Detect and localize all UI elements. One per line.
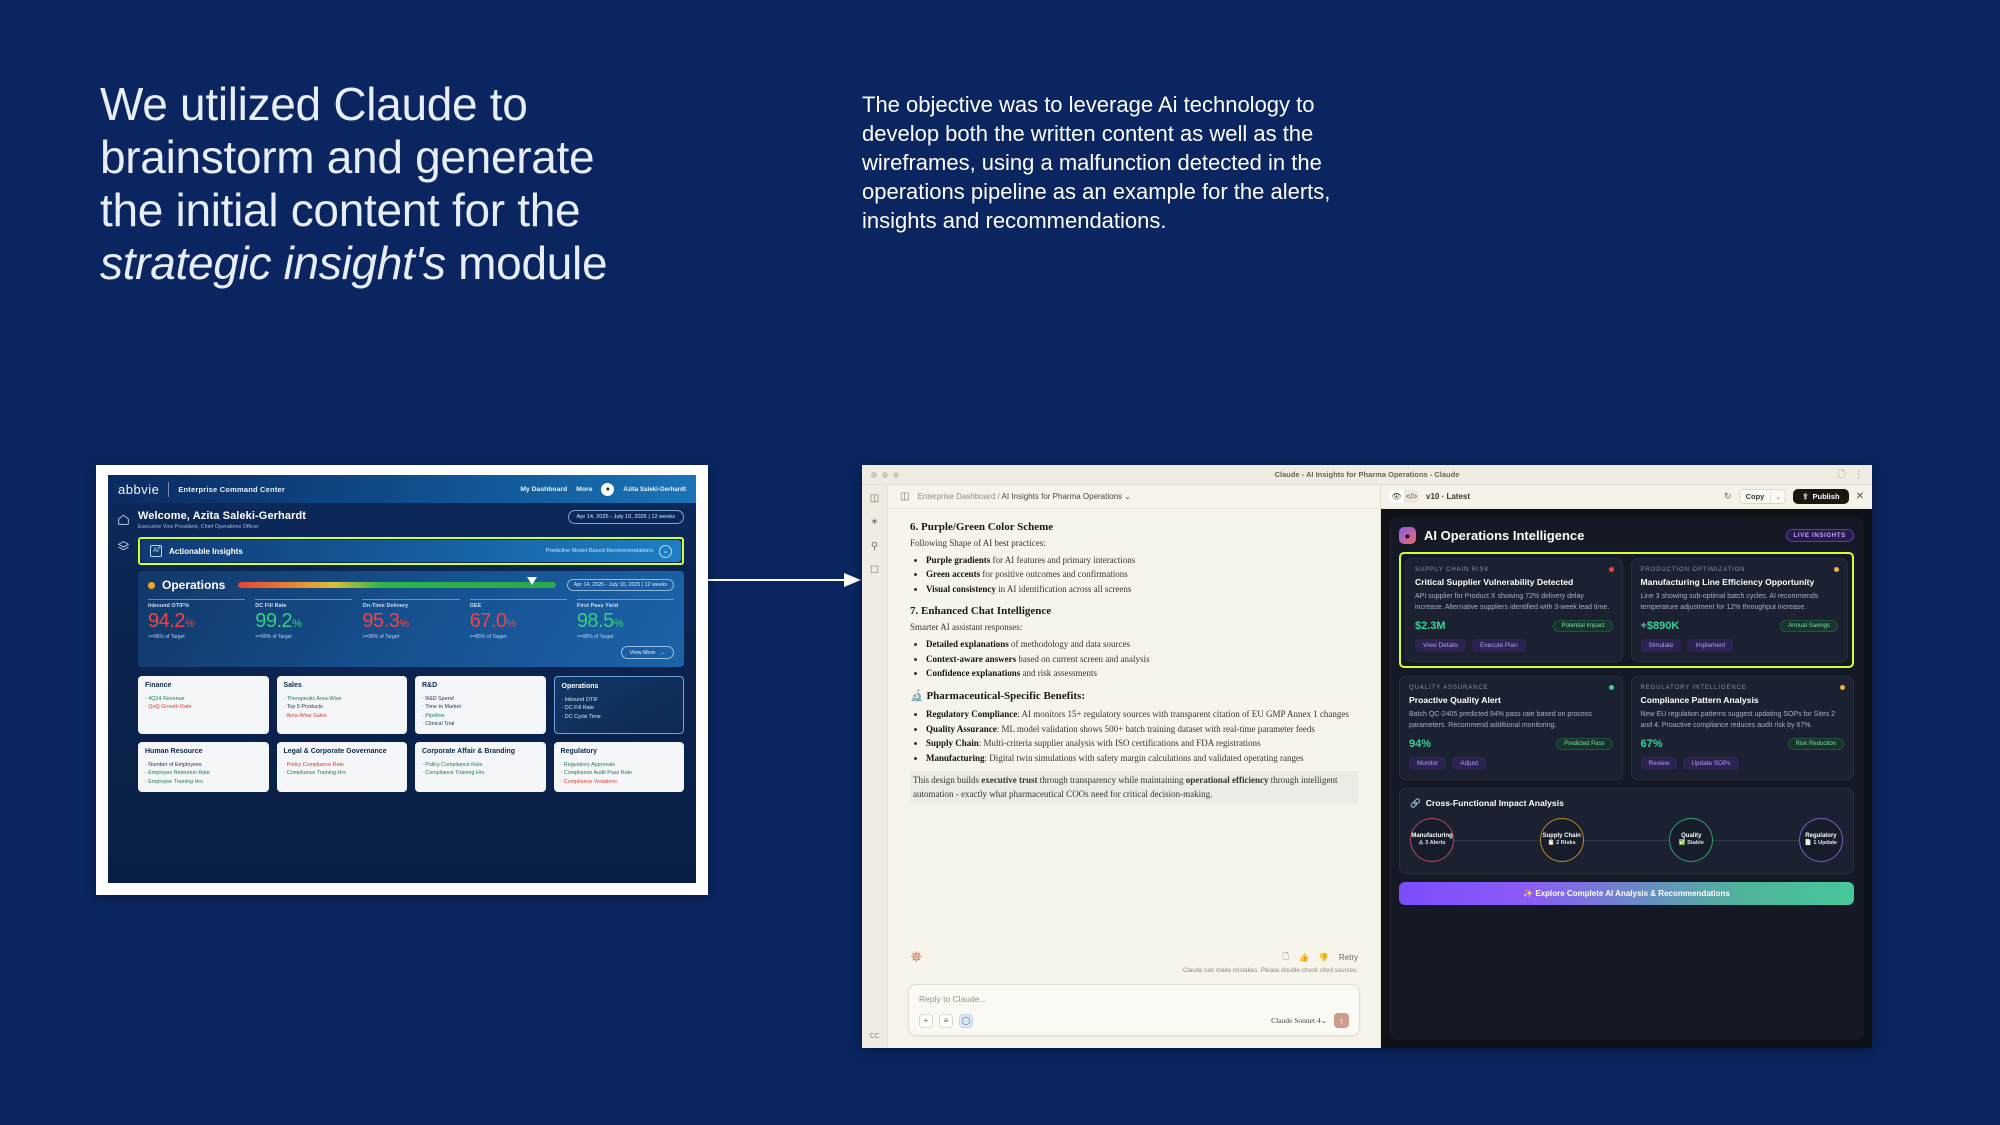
node-status-label: Stable — [1687, 840, 1704, 846]
kpi-target: >=96% of Target — [148, 634, 245, 640]
doc-list-6: Purple gradients for AI features and pri… — [910, 553, 1358, 596]
close-icon[interactable]: ✕ — [1856, 491, 1864, 502]
impact-node-supply-chain[interactable]: Supply Chain 📋 2 Risks — [1540, 818, 1584, 862]
kpi-target: >=99% of Target — [362, 634, 459, 640]
card-items: R&D Spend Time to Market Pipeline Clinic… — [422, 695, 539, 729]
conversation-pane: ◫ Enterprise Dashboard / AI Insights for… — [888, 485, 1380, 1048]
explore-label: Explore Complete AI Analysis & Recommend… — [1535, 889, 1730, 898]
list-item: Compliance Audit Pass Rate — [561, 769, 678, 777]
model-chevron-down-icon: ⌄ — [1321, 1016, 1327, 1025]
node-label: Supply Chain — [1542, 833, 1580, 839]
item-bold: Quality Assurance — [926, 724, 997, 734]
actionable-insights-bar[interactable]: AI+ Actionable Insights Predictive Model… — [141, 540, 681, 562]
claude-app: ◫ ✶ ⚲ ☐ CC ◫ Enterprise Dashboard / AI I… — [862, 485, 1872, 1048]
item-rest: for positive outcomes and confirmations — [980, 569, 1128, 579]
list-item: Number of Employees — [145, 761, 262, 769]
node-status: 📄 1 Update — [1805, 840, 1837, 846]
kpi-value: 95.3% — [362, 610, 459, 632]
list-item: Compliance Training Hrs — [284, 769, 401, 777]
card-title: Legal & Corporate Governance — [284, 748, 401, 757]
card-title: Operations — [562, 683, 677, 692]
card-metric: $2.3M — [1415, 620, 1446, 632]
card-buttons: Review Update SOPs — [1641, 757, 1845, 770]
window-title: Claude - AI Insights for Pharma Operatio… — [862, 470, 1872, 479]
card-buttons: View Details Execute Plan — [1415, 639, 1613, 652]
kpi-value: 67.0% — [470, 610, 567, 632]
insight-cards-row-1: SUPPLY CHAIN RISK Critical Supplier Vuln… — [1405, 558, 1848, 662]
list-item: Pipeline — [422, 712, 539, 720]
send-button[interactable]: ↑ — [1334, 1013, 1349, 1028]
list-item: Time to Market — [422, 703, 539, 711]
impact-nodes: Manufacturing ⚠ 3 Alerts Supply Chain 📋 … — [1410, 818, 1843, 862]
clipboard-icon: 📋 — [1548, 840, 1555, 846]
app-title: Enterprise Command Center — [178, 485, 285, 494]
sliders-icon[interactable]: ≡ — [939, 1014, 953, 1028]
adjust-button[interactable]: Adjust — [1452, 757, 1486, 770]
gauge-marker-icon — [527, 577, 537, 585]
breadcrumb-current: AI Insights for Pharma Operations — [1002, 492, 1123, 501]
kpi-row: Inbound OTIF% 94.2% >=96% of Target DC F… — [148, 599, 674, 640]
actionable-insights-label: Actionable Insights — [169, 547, 243, 556]
kpi-unit: % — [614, 618, 623, 630]
card-description: API supplier for Product X showing 72% d… — [1415, 592, 1613, 614]
user-initials-badge[interactable]: CC — [869, 1033, 879, 1040]
welcome-block: Welcome, Azita Saleki-Gerhardt Executive… — [138, 510, 306, 530]
item-rest: in AI identification across all screens — [996, 584, 1131, 594]
impact-node-quality[interactable]: Quality ✅ Stable — [1669, 818, 1713, 862]
list-item: Confidence explanations and risk assessm… — [926, 666, 1358, 680]
doc-list-7: Detailed explanations of methodology and… — [910, 637, 1358, 680]
card-title: Critical Supplier Vulnerability Detected — [1415, 577, 1613, 588]
list-item: R&D Spend — [422, 695, 539, 703]
kpi-label: On-Time Delivery — [362, 603, 459, 609]
publish-button[interactable]: ⇪ Publish — [1793, 489, 1848, 504]
sparkle-icon: ✨ — [1523, 889, 1533, 898]
model-selector[interactable]: Claude Sonnet 4⌄ — [1271, 1016, 1327, 1025]
card-items: 4Q24 Revenue QoQ Growth Rate — [145, 695, 262, 712]
impact-node-regulatory[interactable]: Regulatory 📄 1 Update — [1799, 818, 1843, 862]
claude-sidebar: ◫ ✶ ⚲ ☐ CC — [862, 485, 888, 1048]
insight-card-regulatory-intelligence[interactable]: REGULATORY INTELLIGENCE Compliance Patte… — [1631, 676, 1855, 780]
card-metric-row: +$890K Annual Savings — [1641, 620, 1839, 632]
card-items: Policy Compliance Rate Compliance Traini… — [422, 761, 539, 778]
window-controls: 🗋 ⋮ — [1838, 467, 1863, 483]
artifact-panel: 👁 </> v10 · Latest ↻ Copy ⌄ ⇪ Publish — [1380, 485, 1872, 1048]
card-title: Regulatory — [561, 748, 678, 757]
node-status: 📋 2 Risks — [1548, 840, 1576, 846]
artifact-version: v10 · Latest — [1426, 492, 1470, 501]
model-label: Claude Sonnet 4 — [1271, 1016, 1321, 1025]
item-rest: for AI features and primary interactions — [990, 555, 1135, 565]
node-label: Manufacturing — [1411, 833, 1452, 839]
kpi-unit: % — [507, 618, 516, 630]
dashboard-sidebar — [108, 503, 138, 883]
document-icon: 📄 — [1805, 840, 1812, 846]
headline-line-1: We utilized Claude to — [100, 78, 820, 131]
card-metric: 94% — [1409, 738, 1431, 750]
insight-card-supply-chain-risk[interactable]: SUPPLY CHAIN RISK Critical Supplier Vuln… — [1405, 558, 1623, 662]
list-item: Purple gradients for AI features and pri… — [926, 553, 1358, 567]
clock-icon[interactable]: ◯ — [959, 1014, 973, 1028]
microscope-icon: 🔬 — [910, 690, 924, 702]
severity-dot-icon — [1834, 567, 1839, 572]
nav-username: Azita Saleki-Gerhardt — [623, 486, 686, 493]
page-title: We utilized Claude to brainstorm and gen… — [100, 78, 820, 290]
arrow-head — [844, 573, 861, 587]
doc-lead-6: Following Shape of AI best practices: — [910, 538, 1358, 548]
eye-icon[interactable]: 👁 — [1389, 490, 1404, 503]
topbar-nav: My Dashboard More ● Azita Saleki-Gerhard… — [520, 483, 686, 496]
card-description: Line 3 showing sub-optimal batch cycles.… — [1641, 592, 1839, 614]
doc-lead-7: Smarter AI assistant responses: — [910, 622, 1358, 632]
composer-wrapper: Reply to Claude... + ≡ ◯ Claude Sonnet 4… — [888, 974, 1380, 1048]
review-button[interactable]: Review — [1641, 757, 1678, 770]
insights-subtitle: Predictive Model-Based Recommendations — [546, 548, 653, 554]
ai-sparkle-icon: ● — [1399, 527, 1416, 544]
link-icon: 🔗 — [1410, 798, 1421, 809]
home-icon[interactable] — [117, 513, 130, 526]
item-rest: : AI monitors 15+ regulatory sources wit… — [1017, 709, 1349, 719]
card-metric: +$890K — [1641, 620, 1680, 632]
kpi-value: 98.5% — [577, 610, 674, 632]
card-items: Policy Compliance Rate Compliance Traini… — [284, 761, 401, 778]
domain-card-legal[interactable]: Legal & Corporate Governance Policy Comp… — [277, 742, 408, 792]
slide-root: We utilized Claude to brainstorm and gen… — [0, 0, 2000, 1125]
card-metric-row: 94% Predicted Pass — [1409, 738, 1613, 750]
closing-bold-2: operational efficiency — [1186, 775, 1269, 785]
welcome-role: Executive Vice President, Chief Operatio… — [138, 524, 306, 530]
closing-a: This design builds — [913, 775, 981, 785]
domain-card-corporate-affair[interactable]: Corporate Affair & Branding Policy Compl… — [415, 742, 546, 792]
card-tag: Risk Reduction — [1788, 738, 1844, 750]
kpi-number: 98.5 — [577, 610, 614, 632]
card-items: Therapeutic Area-Wise Top 5 Products Are… — [284, 695, 401, 720]
card-items: Inbound OTIF DC Fill Rate DC Cycle Time — [562, 696, 677, 721]
copy-chevron-down-icon[interactable]: ⌄ — [1770, 491, 1785, 503]
kpi-label: Inbound OTIF% — [148, 603, 245, 609]
headline-emphasis: strategic insight's — [100, 237, 446, 289]
artifact-actions: ↻ Copy ⌄ ⇪ Publish ✕ — [1724, 489, 1864, 504]
card-title: Human Resource — [145, 748, 262, 757]
item-bold: Green accents — [926, 569, 980, 579]
card-tag: Predicted Pass — [1556, 738, 1612, 750]
domain-card-rnd[interactable]: R&D R&D Spend Time to Market Pipeline Cl… — [415, 676, 546, 734]
disclaimer-text: Claude can make mistakes. Please double-… — [888, 965, 1380, 974]
view-mode-toggle[interactable]: 👁 </> — [1389, 490, 1419, 503]
actionable-insights-highlight: AI+ Actionable Insights Predictive Model… — [138, 537, 684, 565]
headline-line-4: strategic insight's module — [100, 237, 820, 290]
execute-plan-button[interactable]: Execute Plan — [1472, 639, 1526, 652]
card-metric-row: $2.3M Potential Impact — [1415, 620, 1613, 632]
item-bold: Detailed explanations — [926, 639, 1009, 649]
kpi-unit: % — [185, 618, 194, 630]
overflow-menu-icon[interactable]: ⋮ — [1854, 469, 1863, 480]
doc-heading-benefits: 🔬 Pharmaceutical-Specific Benefits: — [910, 689, 1358, 702]
simulate-button[interactable]: Simulate — [1641, 639, 1682, 652]
sidebar-toggle-icon[interactable]: ◫ — [870, 493, 879, 504]
list-item: QoQ Growth Rate — [145, 703, 262, 711]
cross-functional-impact-analysis: 🔗 Cross-Functional Impact Analysis Manuf… — [1399, 788, 1854, 874]
kpi-tile: On-Time Delivery 95.3% >=99% of Target — [362, 599, 459, 640]
nav-more[interactable]: More — [576, 486, 592, 493]
node-status: ✅ Stable — [1679, 840, 1704, 846]
claude-star-icon[interactable]: ✶ — [870, 517, 878, 528]
view-more-label: View More — [630, 650, 656, 656]
view-more-row: View More → — [148, 646, 674, 659]
card-tag: Annual Savings — [1780, 620, 1838, 632]
implement-button[interactable]: Implement — [1687, 639, 1733, 652]
item-bold: Regulatory Compliance — [926, 709, 1017, 719]
list-item: Quality Assurance: ML model validation s… — [926, 722, 1358, 736]
card-title: Compliance Pattern Analysis — [1641, 695, 1845, 706]
message-scroll-area[interactable]: 6. Purple/Green Color Scheme Following S… — [888, 509, 1380, 944]
code-icon[interactable]: </> — [1404, 490, 1419, 503]
headline-tail: module — [446, 237, 608, 289]
kpi-target: >=98% of Target — [577, 634, 674, 640]
ai-badge-icon: AI+ — [150, 545, 162, 557]
kpi-number: 67.0 — [470, 610, 507, 632]
avatar[interactable]: ● — [601, 483, 614, 496]
list-item: Policy Compliance Rate — [422, 761, 539, 769]
item-bold: Confidence explanations — [926, 668, 1020, 678]
kpi-value: 99.2% — [255, 610, 352, 632]
list-item: Employee Retention Rate — [145, 769, 262, 777]
kpi-tile: Inbound OTIF% 94.2% >=96% of Target — [148, 599, 245, 640]
insights-right: Predictive Model-Based Recommendations ⌄ — [546, 545, 672, 558]
live-insights-badge: LIVE INSIGHTS — [1786, 529, 1854, 542]
dashboard-frame: abbvie Enterprise Command Center My Dash… — [108, 475, 696, 883]
card-kicker: SUPPLY CHAIN RISK — [1415, 567, 1613, 573]
list-item: Green accents for positive outcomes and … — [926, 567, 1358, 581]
list-item: Compliance Training Hrs — [422, 769, 539, 777]
domain-card-regulatory[interactable]: Regulatory Regulatory Approvals Complian… — [554, 742, 685, 792]
copy-icon[interactable]: 🗋 — [1283, 951, 1289, 965]
thumbs-down-icon[interactable]: 👎 — [1319, 953, 1329, 962]
monitor-button[interactable]: Monitor — [1409, 757, 1446, 770]
card-items: Regulatory Approvals Compliance Audit Pa… — [561, 761, 678, 786]
dashboard-topbar: abbvie Enterprise Command Center My Dash… — [108, 475, 696, 503]
copy-button[interactable]: Copy ⌄ — [1739, 489, 1787, 504]
list-item: Visual consistency in AI identification … — [926, 582, 1358, 596]
operations-date-chip[interactable]: Apr 14, 2025 - July 10, 2025 | 12 weeks — [567, 579, 674, 591]
kpi-number: 95.3 — [362, 610, 399, 632]
list-item: Area-Wise Sales — [284, 712, 401, 720]
insight-card-production-optimization[interactable]: PRODUCTION OPTIMIZATION Manufacturing Li… — [1631, 558, 1849, 662]
list-item: Employee Training Hrs — [145, 778, 262, 786]
item-bold: Manufacturing — [926, 753, 985, 763]
card-title: Corporate Affair & Branding — [422, 748, 539, 757]
insight-cards-row-2: QUALITY ASSURANCE Proactive Quality Aler… — [1399, 676, 1854, 780]
welcome-greeting: Welcome, Azita Saleki-Gerhardt — [138, 510, 306, 522]
search-icon[interactable]: ⚲ — [871, 541, 878, 552]
operations-header: Operations Apr 14, 2025 - July 10, 2025 … — [148, 578, 674, 592]
severity-dot-icon — [1840, 685, 1845, 690]
list-item: Context-aware answers based on current s… — [926, 652, 1358, 666]
node-status: ⚠ 3 Alerts — [1419, 840, 1446, 846]
doc-list-benefits: Regulatory Compliance: AI monitors 15+ r… — [910, 707, 1358, 765]
card-title: Proactive Quality Alert — [1409, 695, 1613, 706]
window-titlebar: Claude - AI Insights for Pharma Operatio… — [862, 465, 1872, 485]
card-description: New EU regulation patterns suggest updat… — [1641, 710, 1845, 732]
list-item: Top 5 Products — [284, 703, 401, 711]
kpi-number: 94.2 — [148, 610, 185, 632]
dashboard-screenshot: abbvie Enterprise Command Center My Dash… — [96, 465, 708, 895]
status-dot-icon — [148, 582, 155, 589]
kpi-label: OEE — [470, 603, 567, 609]
refresh-icon[interactable]: ↻ — [1724, 491, 1732, 502]
breadcrumb-separator: / — [998, 492, 1000, 501]
upload-icon: ⇪ — [1802, 492, 1808, 501]
explore-analysis-button[interactable]: ✨ Explore Complete AI Analysis & Recomme… — [1399, 882, 1854, 905]
kpi-tile: DC Fill Rate 99.2% >=99% of Target — [255, 599, 352, 640]
message-composer[interactable]: Reply to Claude... + ≡ ◯ Claude Sonnet 4… — [908, 984, 1360, 1036]
headline-line-3: the initial content for the — [100, 184, 820, 237]
kpi-target: >=85% of Target — [470, 634, 567, 640]
node-status-label: 2 Risks — [1556, 840, 1576, 846]
item-bold: Purple gradients — [926, 555, 990, 565]
domain-card-operations[interactable]: Operations Inbound OTIF DC Fill Rate DC … — [554, 676, 685, 734]
topbar-divider — [168, 482, 169, 497]
severity-dot-icon — [1609, 567, 1614, 572]
copy-window-icon[interactable]: 🗋 — [1838, 467, 1845, 483]
item-rest: based on current screen and analysis — [1016, 654, 1149, 664]
operations-panel: Operations Apr 14, 2025 - July 10, 2025 … — [138, 571, 684, 667]
headline-line-2: brainstorm and generate — [100, 131, 820, 184]
arrow-right-icon: → — [660, 650, 666, 656]
card-title: R&D — [422, 682, 539, 691]
view-details-button[interactable]: View Details — [1415, 639, 1466, 652]
benefits-title: Pharmaceutical-Specific Benefits: — [926, 690, 1085, 702]
insight-cards-highlight: SUPPLY CHAIN RISK Critical Supplier Vuln… — [1399, 552, 1854, 668]
doc-heading-7: 7. Enhanced Chat Intelligence — [910, 605, 1358, 617]
kpi-tile: First Pass Yield 98.5% >=98% of Target — [577, 599, 674, 640]
list-item: Detailed explanations of methodology and… — [926, 637, 1358, 651]
list-item: Policy Compliance Rate — [284, 761, 401, 769]
reply-input[interactable]: Reply to Claude... — [919, 994, 1349, 1004]
item-rest: : Multi-criteria supplier analysis with … — [979, 738, 1261, 748]
severity-dot-icon — [1609, 685, 1614, 690]
claude-burst-icon: ✵ — [910, 950, 923, 965]
card-title: Manufacturing Line Efficiency Opportunit… — [1641, 577, 1839, 588]
breadcrumb: ◫ Enterprise Dashboard / AI Insights for… — [888, 485, 1380, 509]
kpi-label: DC Fill Rate — [255, 603, 352, 609]
plus-icon[interactable]: + — [919, 1014, 933, 1028]
breadcrumb-text[interactable]: Enterprise Dashboard / AI Insights for P… — [917, 492, 1131, 501]
objective-paragraph: The objective was to leverage Ai technol… — [862, 90, 1362, 235]
message-buttons: 🗋 👍 👎 Retry — [1283, 951, 1359, 965]
claude-window-screenshot: Claude - AI Insights for Pharma Operatio… — [862, 465, 1872, 1048]
node-label: Regulatory — [1805, 833, 1836, 839]
domain-card-finance[interactable]: Finance 4Q24 Revenue QoQ Growth Rate — [138, 676, 269, 734]
node-label: Quality — [1681, 833, 1701, 839]
cross-title-label: Cross-Functional Impact Analysis — [1426, 798, 1564, 808]
thumbs-up-icon[interactable]: 👍 — [1299, 953, 1309, 962]
kpi-number: 99.2 — [255, 610, 292, 632]
nav-my-dashboard[interactable]: My Dashboard — [520, 486, 567, 493]
list-item: DC Cycle Time — [562, 713, 677, 721]
node-status-label: 3 Alerts — [1425, 840, 1445, 846]
card-description: Batch QC-2405 predicted 94% pass rate ba… — [1409, 710, 1613, 732]
card-title: Finance — [145, 682, 262, 691]
breadcrumb-root: Enterprise Dashboard — [917, 492, 995, 501]
list-item: 4Q24 Revenue — [145, 695, 262, 703]
list-item: Clinical Trial — [422, 720, 539, 728]
kpi-tile: OEE 67.0% >=85% of Target — [470, 599, 567, 640]
item-rest: : ML model validation shows 500+ batch t… — [997, 724, 1315, 734]
domain-cards-grid: Finance 4Q24 Revenue QoQ Growth Rate Sal… — [138, 676, 684, 792]
artifact-canvas: ● AI Operations Intelligence LIVE INSIGH… — [1381, 509, 1872, 1048]
node-status-label: 1 Update — [1813, 840, 1837, 846]
item-rest: and risk assessments — [1020, 668, 1097, 678]
impact-node-manufacturing[interactable]: Manufacturing ⚠ 3 Alerts — [1410, 818, 1454, 862]
kpi-target: >=99% of Target — [255, 634, 352, 640]
closing-c: through transparency while maintaining — [1038, 775, 1186, 785]
card-kicker: PRODUCTION OPTIMIZATION — [1641, 567, 1839, 573]
cross-title: 🔗 Cross-Functional Impact Analysis — [1410, 798, 1843, 809]
list-item: Compliance Violations — [561, 778, 678, 786]
card-buttons: Simulate Implement — [1641, 639, 1839, 652]
dashboard-body: Welcome, Azita Saleki-Gerhardt Executive… — [108, 503, 696, 883]
layers-icon[interactable] — [117, 540, 130, 553]
insight-card-quality-assurance[interactable]: QUALITY ASSURANCE Proactive Quality Aler… — [1399, 676, 1623, 780]
view-more-button[interactable]: View More → — [621, 646, 674, 659]
doc-heading-6: 6. Purple/Green Color Scheme — [910, 521, 1358, 533]
operations-title: Operations — [162, 578, 225, 592]
chevron-down-icon[interactable]: ⌄ — [659, 545, 672, 558]
artifact-toolbar: 👁 </> v10 · Latest ↻ Copy ⌄ ⇪ Publish — [1381, 485, 1872, 509]
header-date-range-chip[interactable]: Apr 14, 2025 - July 10, 2025 | 12 weeks — [568, 510, 684, 524]
list-item: Supply Chain: Multi-criteria supplier an… — [926, 736, 1358, 750]
item-rest: : Digital twin simulations with safety m… — [985, 753, 1304, 763]
domain-card-human-resource[interactable]: Human Resource Number of Employees Emplo… — [138, 742, 269, 792]
card-title: Sales — [284, 682, 401, 691]
kpi-unit: % — [292, 618, 301, 630]
ai-operations-intelligence-panel: ● AI Operations Intelligence LIVE INSIGH… — [1389, 517, 1864, 1040]
list-item: Regulatory Approvals — [561, 761, 678, 769]
item-bold: Supply Chain — [926, 738, 979, 748]
warning-icon: ⚠ — [1419, 840, 1424, 846]
kpi-unit: % — [399, 618, 408, 630]
retry-button[interactable]: Retry — [1339, 953, 1358, 962]
breadcrumb-chevron-down-icon[interactable]: ⌄ — [1124, 492, 1131, 501]
composer-toolbar: + ≡ ◯ Claude Sonnet 4⌄ ↑ — [919, 1013, 1349, 1028]
list-item: Regulatory Compliance: AI monitors 15+ r… — [926, 707, 1358, 721]
doc-closing-paragraph: This design builds executive trust throu… — [910, 771, 1358, 804]
domain-card-sales[interactable]: Sales Therapeutic Area-Wise Top 5 Produc… — [277, 676, 408, 734]
list-item: Manufacturing: Digital twin simulations … — [926, 751, 1358, 765]
item-rest: of methodology and data sources — [1009, 639, 1130, 649]
panel-toggle-icon[interactable]: ◫ — [900, 491, 909, 502]
list-item: Inbound OTIF — [562, 696, 677, 704]
welcome-row: Welcome, Azita Saleki-Gerhardt Executive… — [138, 510, 684, 530]
assistant-message: 6. Purple/Green Color Scheme Following S… — [910, 521, 1358, 804]
ai-panel-title: AI Operations Intelligence — [1424, 528, 1584, 543]
card-tag: Potential Impact — [1553, 620, 1612, 632]
check-icon: ✅ — [1679, 840, 1686, 846]
performance-gauge — [238, 582, 555, 588]
card-metric-row: 67% Risk Reduction — [1641, 738, 1845, 750]
message-action-bar: ✵ 🗋 👍 👎 Retry — [888, 944, 1380, 965]
abbvie-logo: abbvie — [118, 482, 159, 497]
ai-panel-header: ● AI Operations Intelligence LIVE INSIGH… — [1399, 527, 1854, 544]
chats-icon[interactable]: ☐ — [870, 565, 879, 576]
update-sops-button[interactable]: Update SOPs — [1683, 757, 1738, 770]
card-kicker: QUALITY ASSURANCE — [1409, 685, 1613, 691]
card-buttons: Monitor Adjust — [1409, 757, 1613, 770]
composer-right: Claude Sonnet 4⌄ ↑ — [1271, 1013, 1349, 1028]
card-items: Number of Employees Employee Retention R… — [145, 761, 262, 786]
list-item: DC Fill Rate — [562, 704, 677, 712]
